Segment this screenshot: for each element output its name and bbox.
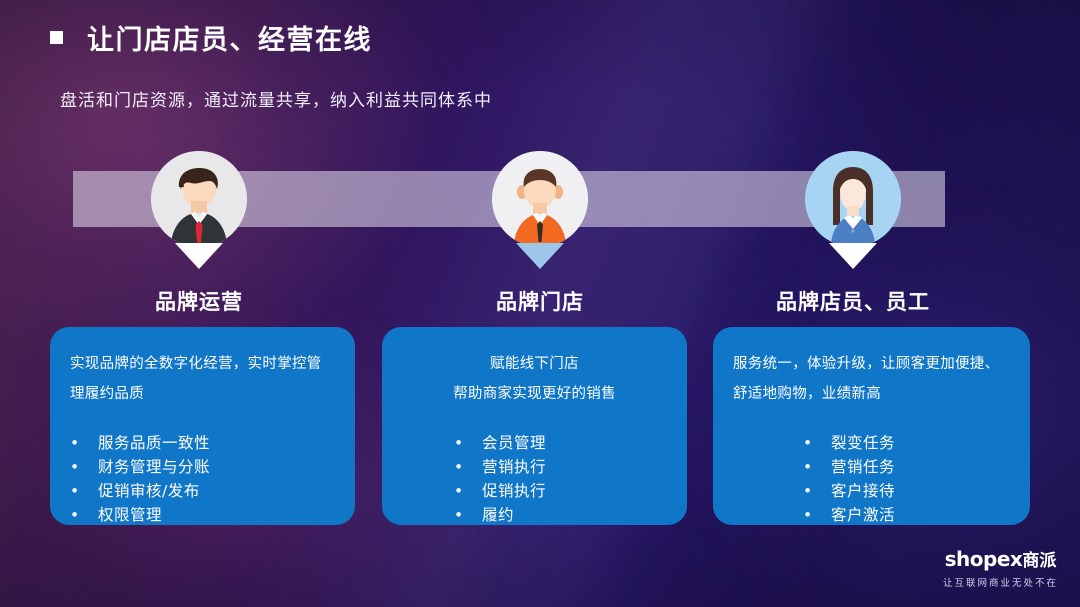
bullet-point-icon: • — [70, 479, 98, 503]
list-item-label: 会员管理 — [482, 431, 546, 455]
list-item-label: 服务品质一致性 — [98, 431, 210, 455]
card-description: 服务统一，体验升级，让顾客更加便捷、舒适地购物，业绩新高 — [733, 349, 1010, 409]
list-item: •营销执行 — [402, 455, 667, 479]
pin-pointer — [175, 243, 223, 269]
bullet-point-icon: • — [454, 503, 482, 527]
persona-pin-3: 品牌店员、员工 — [805, 151, 901, 247]
bullet-point-icon: • — [803, 431, 831, 455]
list-item: •促销审核/发布 — [70, 479, 335, 503]
card-description-line-2: 帮助商家实现更好的销售 — [402, 379, 667, 409]
avatar-businessman-icon — [151, 151, 247, 247]
avatar — [492, 151, 588, 247]
list-item: •促销执行 — [402, 479, 667, 503]
logo-brand-text: shopex — [945, 547, 1023, 571]
list-item: •会员管理 — [402, 431, 667, 455]
logo-tagline: 让互联网商业无处不在 — [943, 575, 1058, 589]
persona-label-1: 品牌运营 — [155, 286, 243, 316]
avatar — [151, 151, 247, 247]
avatar — [805, 151, 901, 247]
list-item: •裂变任务 — [733, 431, 1010, 455]
persona-label-2: 品牌门店 — [496, 286, 584, 316]
square-bullet-icon — [50, 31, 63, 44]
card-bullet-list: •会员管理 •营销执行 •促销执行 •履约 — [402, 431, 667, 527]
avatar-shop-staff-icon — [492, 151, 588, 247]
bullet-point-icon: • — [803, 479, 831, 503]
list-item-label: 营销任务 — [831, 455, 895, 479]
list-item-label: 裂变任务 — [831, 431, 895, 455]
list-item: •履约 — [402, 503, 667, 527]
list-item-label: 客户激活 — [831, 503, 895, 527]
info-card-brand-store[interactable]: 赋能线下门店 帮助商家实现更好的销售 •会员管理 •营销执行 •促销执行 •履约 — [382, 327, 687, 525]
info-card-brand-clerk[interactable]: 服务统一，体验升级，让顾客更加便捷、舒适地购物，业绩新高 •裂变任务 •营销任务… — [713, 327, 1030, 525]
bullet-point-icon: • — [70, 431, 98, 455]
list-item: •财务管理与分账 — [70, 455, 335, 479]
info-card-brand-operation[interactable]: 实现品牌的全数字化经营，实时掌控管理履约品质 •服务品质一致性 •财务管理与分账… — [50, 327, 355, 525]
list-item-label: 客户接待 — [831, 479, 895, 503]
pin-pointer — [516, 243, 564, 269]
list-item-label: 财务管理与分账 — [98, 455, 210, 479]
card-bullet-list: •服务品质一致性 •财务管理与分账 •促销审核/发布 •权限管理 — [70, 431, 335, 527]
page-title: 让门店店员、经营在线 — [50, 18, 372, 57]
presentation-slide: 让门店店员、经营在线 盘活和门店资源，通过流量共享，纳入利益共同体系中 品牌运营 — [0, 0, 1080, 607]
bullet-point-icon: • — [70, 503, 98, 527]
persona-pin-2: 品牌门店 — [492, 151, 588, 247]
bullet-point-icon: • — [70, 455, 98, 479]
list-item-label: 履约 — [482, 503, 514, 527]
bullet-point-icon: • — [454, 455, 482, 479]
avatar-female-clerk-icon — [805, 151, 901, 247]
logo-brand-cn-text: 商派 — [1022, 551, 1056, 571]
list-item: •客户激活 — [733, 503, 1010, 527]
logo-wordmark: shopex商派 — [943, 546, 1058, 571]
list-item: •权限管理 — [70, 503, 335, 527]
list-item-label: 权限管理 — [98, 503, 162, 527]
persona-label-3: 品牌店员、员工 — [776, 286, 930, 316]
list-item: •营销任务 — [733, 455, 1010, 479]
bullet-point-icon: • — [803, 503, 831, 527]
list-item-label: 促销执行 — [482, 479, 546, 503]
card-description-line-1: 赋能线下门店 — [402, 349, 667, 379]
page-subtitle: 盘活和门店资源，通过流量共享，纳入利益共同体系中 — [60, 86, 492, 111]
list-item-label: 营销执行 — [482, 455, 546, 479]
list-item-label: 促销审核/发布 — [98, 479, 200, 503]
bullet-point-icon: • — [454, 479, 482, 503]
bullet-point-icon: • — [803, 455, 831, 479]
pin-pointer — [829, 243, 877, 269]
card-bullet-list: •裂变任务 •营销任务 •客户接待 •客户激活 — [733, 431, 1010, 527]
list-item: •服务品质一致性 — [70, 431, 335, 455]
list-item: •客户接待 — [733, 479, 1010, 503]
brand-logo: shopex商派 让互联网商业无处不在 — [943, 546, 1058, 589]
page-title-text: 让门店店员、经营在线 — [87, 18, 372, 57]
bullet-point-icon: • — [454, 431, 482, 455]
persona-pin-1: 品牌运营 — [151, 151, 247, 247]
card-description: 实现品牌的全数字化经营，实时掌控管理履约品质 — [70, 349, 335, 409]
